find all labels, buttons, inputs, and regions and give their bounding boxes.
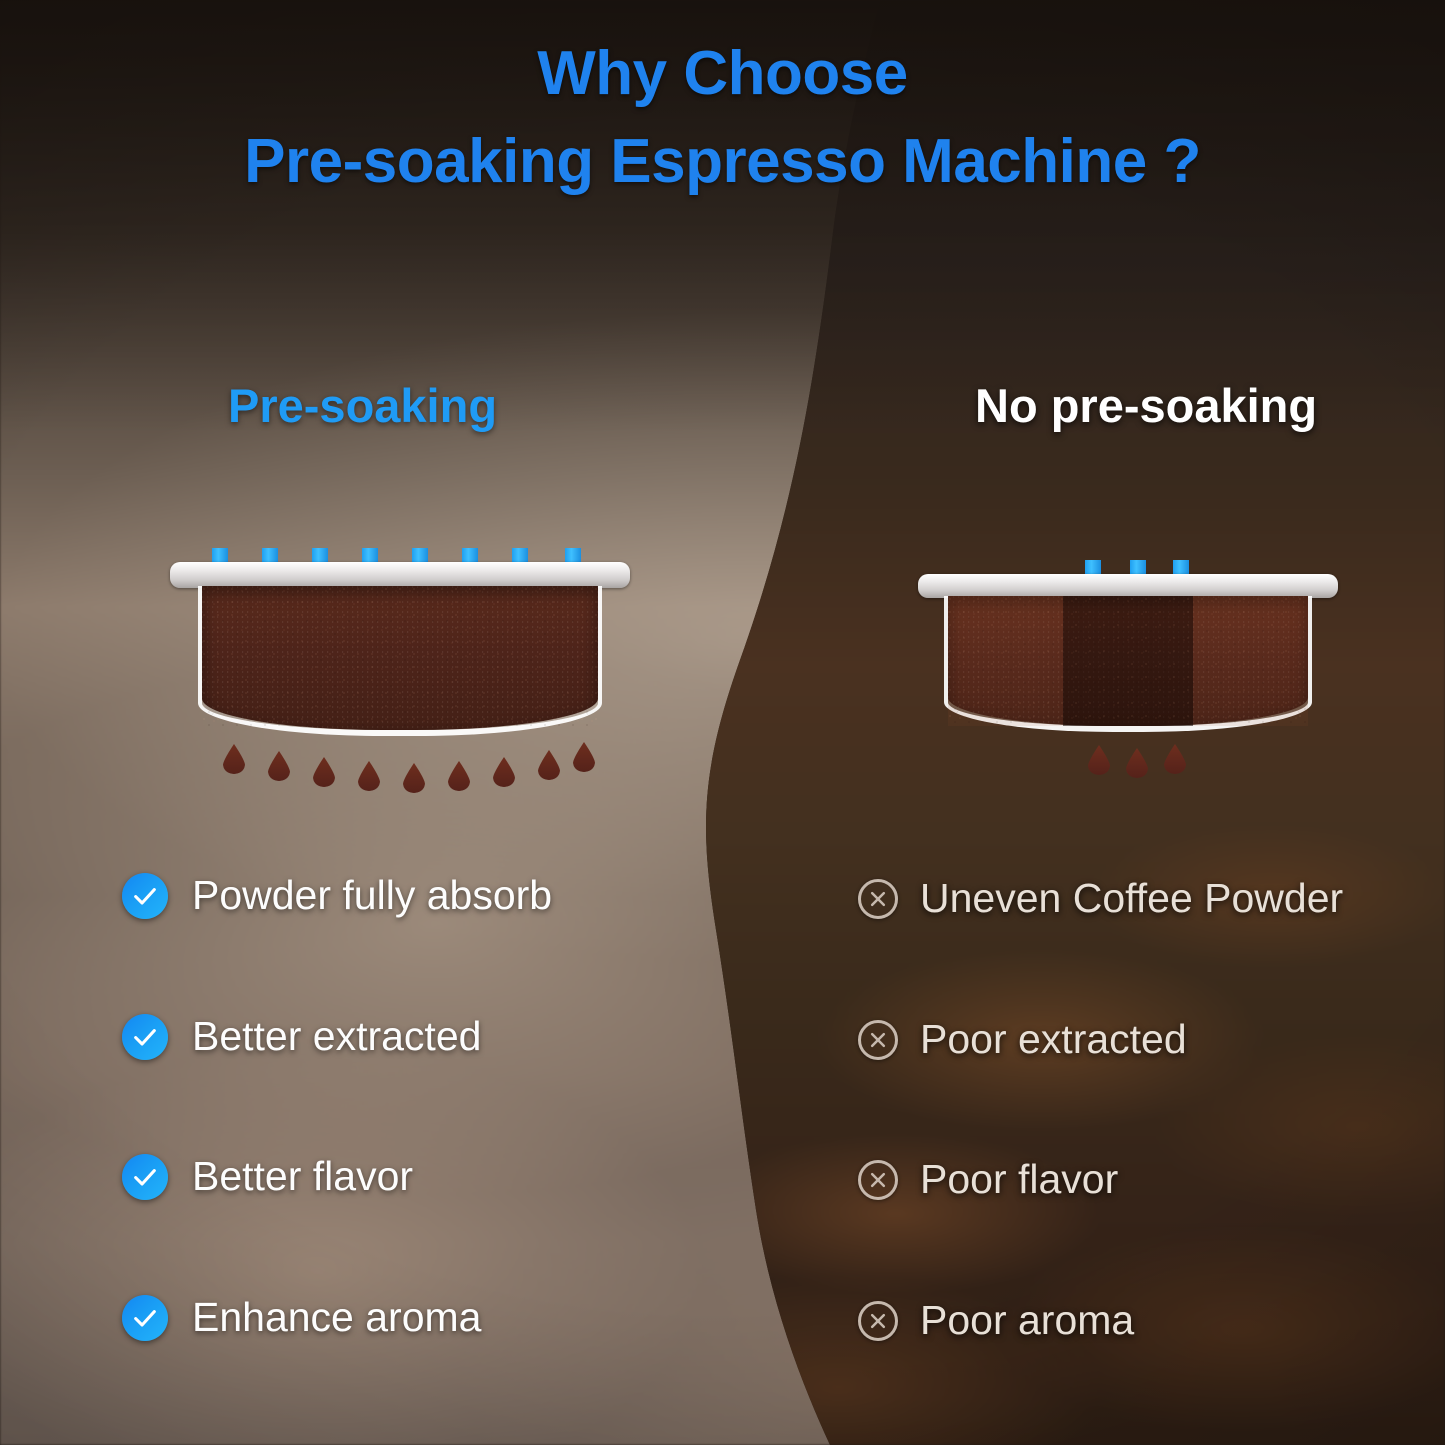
portafilter-rim — [918, 574, 1338, 598]
list-item-label: Powder fully absorb — [192, 872, 552, 919]
coffee-drip-icon — [573, 742, 595, 772]
list-item-label: Poor extracted — [920, 1016, 1187, 1063]
check-circle-icon — [122, 1154, 168, 1200]
page-title-line-1: Why Choose — [0, 30, 1445, 118]
page-title: Why Choose Pre-soaking Espresso Machine … — [0, 30, 1445, 206]
portafilter-basket — [944, 596, 1312, 732]
coffee-drip-icon — [1088, 745, 1110, 775]
coffee-drip-icon — [1164, 744, 1186, 774]
x-circle-icon — [858, 1160, 898, 1200]
list-item-label: Poor aroma — [920, 1297, 1134, 1344]
list-item[interactable]: Poor extracted — [858, 1016, 1187, 1063]
portafilter-diagram-pre-soaking — [170, 548, 630, 798]
coffee-drip-icon — [358, 761, 380, 791]
page-title-line-2: Pre-soaking Espresso Machine ? — [0, 118, 1445, 206]
puck-band-dry — [948, 596, 1063, 726]
column-heading-no-pre-soaking: No pre-soaking — [975, 378, 1317, 433]
puck-band-dry — [1193, 596, 1308, 726]
check-circle-icon — [122, 1014, 168, 1060]
list-item[interactable]: Better flavor — [122, 1153, 413, 1200]
list-item-label: Better flavor — [192, 1153, 413, 1200]
coffee-drip-icon — [223, 744, 245, 774]
coffee-drip-icon — [538, 750, 560, 780]
list-item[interactable]: Enhance aroma — [122, 1294, 481, 1341]
infographic-canvas: Why Choose Pre-soaking Espresso Machine … — [0, 0, 1445, 1445]
list-item[interactable]: Powder fully absorb — [122, 872, 552, 919]
list-item-label: Uneven Coffee Powder — [920, 875, 1343, 922]
coffee-drip-icon — [493, 757, 515, 787]
portafilter-rim — [170, 562, 630, 588]
coffee-puck-even — [202, 586, 598, 730]
list-item-label: Enhance aroma — [192, 1294, 481, 1341]
coffee-drip-icon — [403, 763, 425, 793]
portafilter-diagram-no-pre-soaking — [918, 560, 1338, 800]
list-item[interactable]: Better extracted — [122, 1013, 481, 1060]
x-circle-icon — [858, 879, 898, 919]
coffee-drip-icon — [1126, 748, 1148, 778]
list-item[interactable]: Poor aroma — [858, 1297, 1134, 1344]
coffee-drip-icon — [268, 751, 290, 781]
column-heading-pre-soaking: Pre-soaking — [228, 378, 497, 433]
list-item-label: Poor flavor — [920, 1156, 1118, 1203]
coffee-drip-icon — [448, 761, 470, 791]
coffee-puck-uneven — [948, 596, 1308, 726]
list-item-label: Better extracted — [192, 1013, 481, 1060]
list-item[interactable]: Uneven Coffee Powder — [858, 875, 1343, 922]
x-circle-icon — [858, 1020, 898, 1060]
puck-band-wet — [1063, 596, 1193, 726]
portafilter-basket — [198, 586, 602, 736]
check-circle-icon — [122, 1295, 168, 1341]
list-item[interactable]: Poor flavor — [858, 1156, 1118, 1203]
x-circle-icon — [858, 1301, 898, 1341]
coffee-drip-icon — [313, 757, 335, 787]
check-circle-icon — [122, 873, 168, 919]
